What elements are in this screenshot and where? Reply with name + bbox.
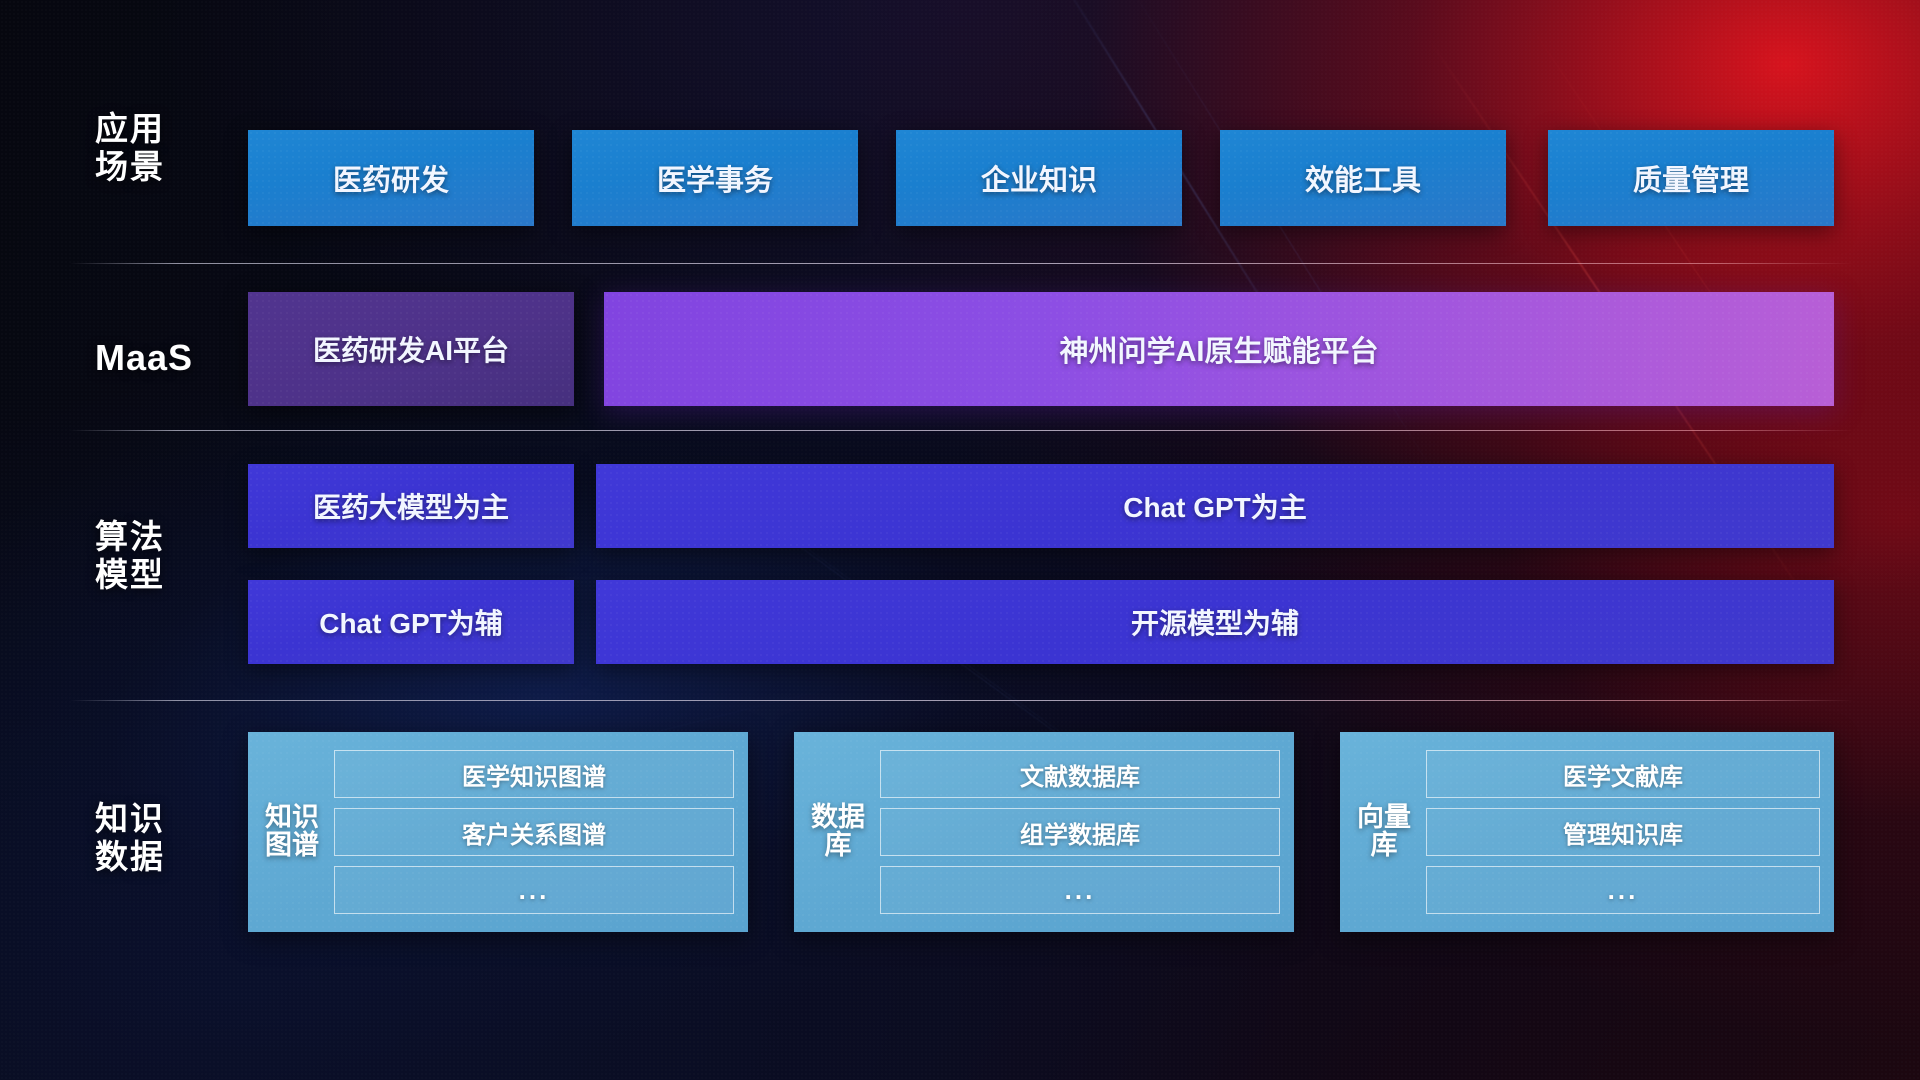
knowledge-item-more[interactable]: ... xyxy=(334,866,734,914)
row-label-maas: MaaS xyxy=(95,337,225,379)
algo-card-1-right[interactable]: 开源模型为辅 xyxy=(596,580,1834,664)
knowledge-item[interactable]: 客户关系图谱 xyxy=(334,808,734,856)
row-divider-3 xyxy=(70,700,1853,701)
row-label-algorithm-model: 算法 模型 xyxy=(95,518,225,595)
knowledge-panel-1-label: 数据库 xyxy=(810,804,866,859)
knowledge-item[interactable]: 文献数据库 xyxy=(880,750,1280,798)
knowledge-panel-2-items: 医学文献库 管理知识库 ... xyxy=(1412,750,1820,914)
knowledge-item-label: 文献数据库 xyxy=(1020,757,1140,792)
app-card-2[interactable]: 企业知识 xyxy=(896,130,1182,226)
maas-card-left-label: 医药研发AI平台 xyxy=(313,329,509,369)
knowledge-item[interactable]: 医学文献库 xyxy=(1426,750,1820,798)
app-card-label: 医药研发 xyxy=(333,157,449,199)
algo-card-0-left[interactable]: 医药大模型为主 xyxy=(248,464,574,548)
architecture-diagram: 应用 场景 医药研发 医学事务 企业知识 效能工具 质量管理 MaaS 医药研发… xyxy=(0,0,1920,1080)
knowledge-item-label: ... xyxy=(1608,875,1639,906)
knowledge-item-label: ... xyxy=(1065,875,1096,906)
row-divider-1 xyxy=(70,263,1853,264)
algo-card-label: 医药大模型为主 xyxy=(313,486,509,526)
row-divider-2 xyxy=(70,430,1853,431)
knowledge-panel-2[interactable]: 向量库 医学文献库 管理知识库 ... xyxy=(1340,732,1834,932)
knowledge-panel-0-items: 医学知识图谱 客户关系图谱 ... xyxy=(320,750,734,914)
app-card-1[interactable]: 医学事务 xyxy=(572,130,858,226)
app-card-label: 质量管理 xyxy=(1633,157,1749,199)
knowledge-item-label: 客户关系图谱 xyxy=(462,815,606,850)
app-card-label: 企业知识 xyxy=(981,157,1097,199)
knowledge-item-label: 管理知识库 xyxy=(1563,815,1683,850)
app-card-label: 效能工具 xyxy=(1305,157,1421,199)
algo-card-label: Chat GPT为主 xyxy=(1123,486,1307,526)
app-card-0[interactable]: 医药研发 xyxy=(248,130,534,226)
knowledge-item-more[interactable]: ... xyxy=(1426,866,1820,914)
algo-card-1-left[interactable]: Chat GPT为辅 xyxy=(248,580,574,664)
row-label-knowledge-data: 知识 数据 xyxy=(95,800,225,877)
app-card-3[interactable]: 效能工具 xyxy=(1220,130,1506,226)
maas-card-left[interactable]: 医药研发AI平台 xyxy=(248,292,574,406)
knowledge-item-more[interactable]: ... xyxy=(880,866,1280,914)
knowledge-panel-1-items: 文献数据库 组学数据库 ... xyxy=(866,750,1280,914)
app-card-4[interactable]: 质量管理 xyxy=(1548,130,1834,226)
maas-card-right[interactable]: 神州问学AI原生赋能平台 xyxy=(604,292,1834,406)
knowledge-panel-1[interactable]: 数据库 文献数据库 组学数据库 ... xyxy=(794,732,1294,932)
algo-card-label: Chat GPT为辅 xyxy=(319,602,503,642)
knowledge-item-label: 组学数据库 xyxy=(1020,815,1140,850)
maas-card-right-label: 神州问学AI原生赋能平台 xyxy=(1059,328,1378,370)
algo-card-0-right[interactable]: Chat GPT为主 xyxy=(596,464,1834,548)
knowledge-panel-2-label: 向量库 xyxy=(1356,804,1412,859)
knowledge-item-label: 医学知识图谱 xyxy=(462,757,606,792)
knowledge-panel-0[interactable]: 知识图谱 医学知识图谱 客户关系图谱 ... xyxy=(248,732,748,932)
knowledge-item-label: ... xyxy=(519,875,550,906)
knowledge-item[interactable]: 组学数据库 xyxy=(880,808,1280,856)
knowledge-item[interactable]: 医学知识图谱 xyxy=(334,750,734,798)
knowledge-item[interactable]: 管理知识库 xyxy=(1426,808,1820,856)
knowledge-item-label: 医学文献库 xyxy=(1563,757,1683,792)
app-card-label: 医学事务 xyxy=(657,157,773,199)
algo-card-label: 开源模型为辅 xyxy=(1131,602,1299,642)
row-label-app-scenarios: 应用 场景 xyxy=(95,110,225,187)
knowledge-panel-0-label: 知识图谱 xyxy=(264,804,320,859)
